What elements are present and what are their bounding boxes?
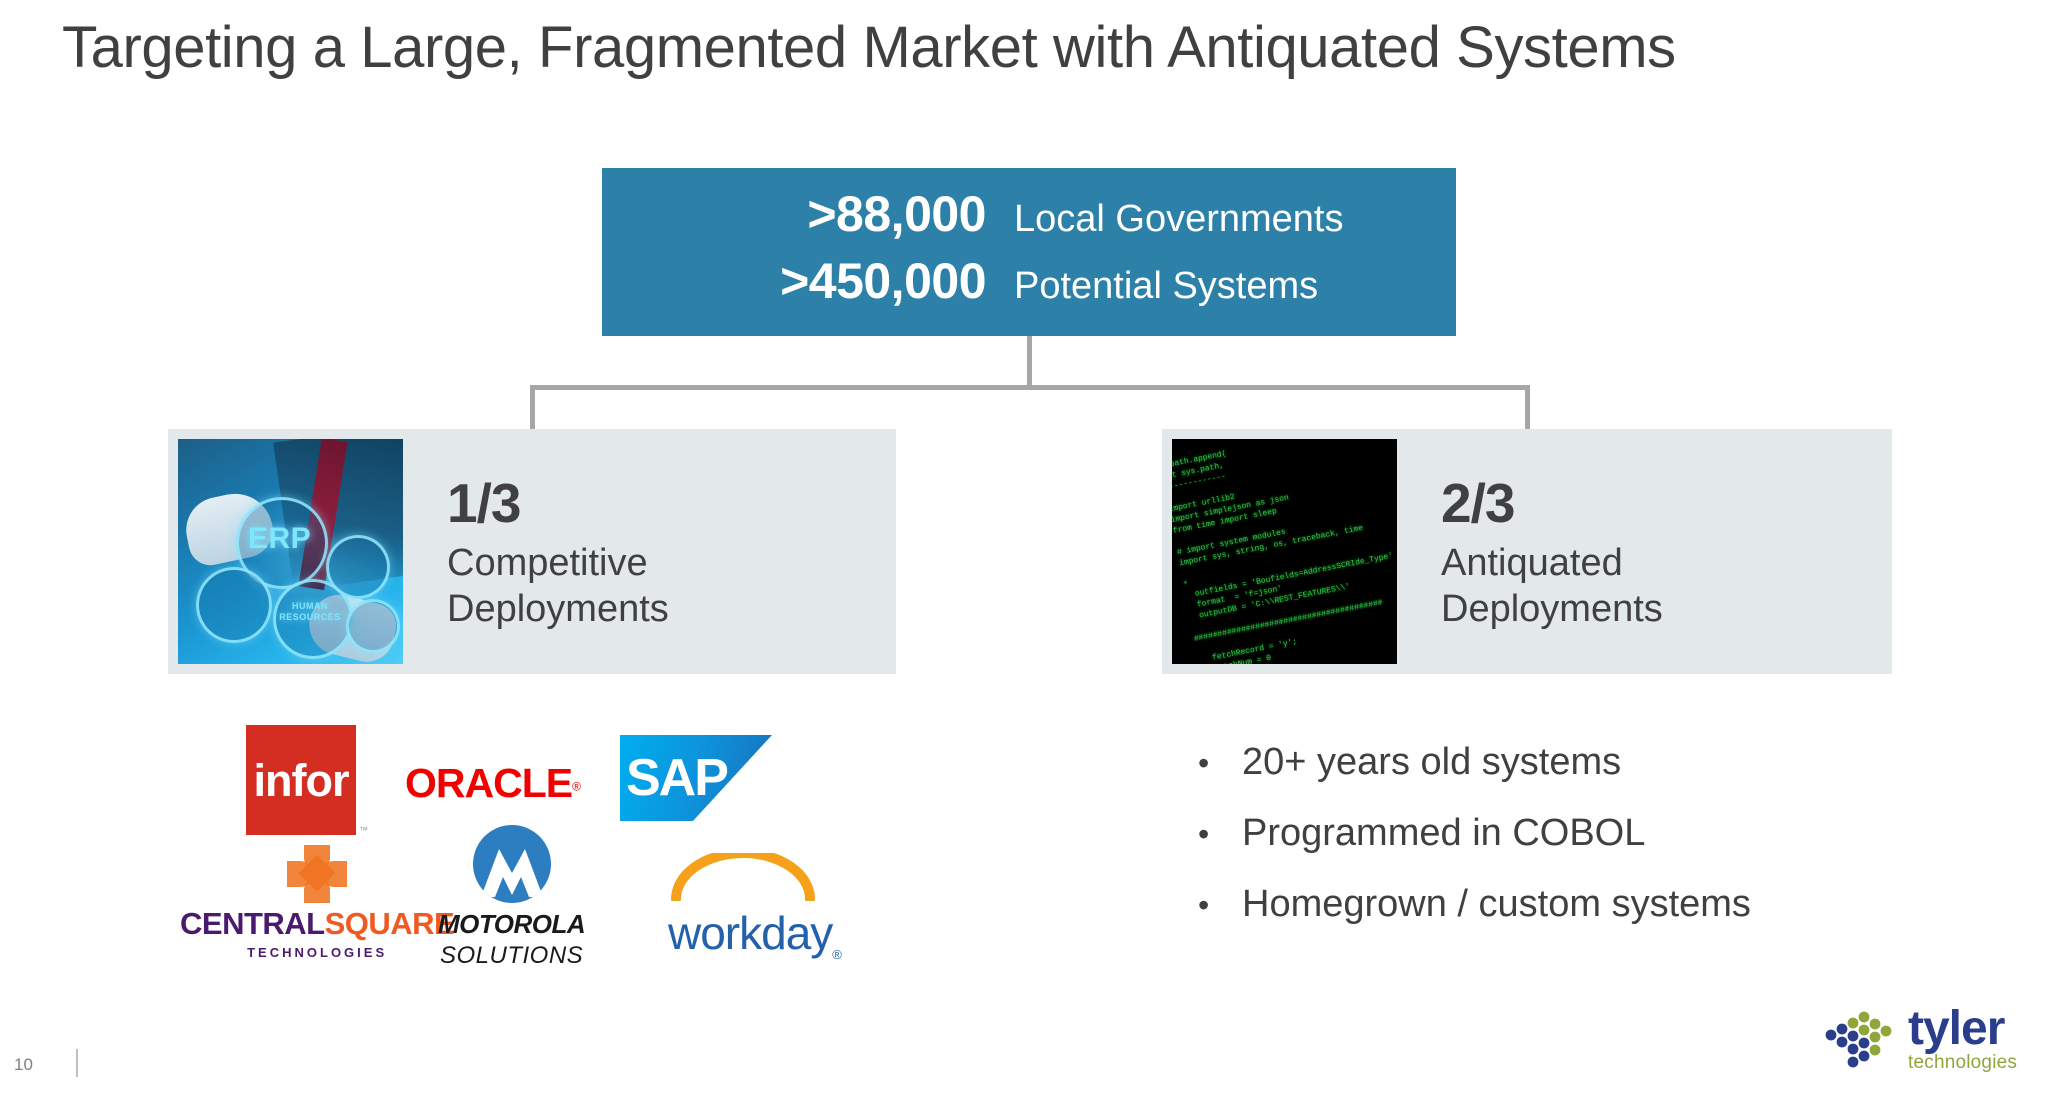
- infor-trademark-symbol: ™: [359, 825, 368, 835]
- stat-row-local-governments: >88,000 Local Governments: [698, 185, 1456, 252]
- card-caption-line2: Deployments: [447, 586, 669, 632]
- connector-line-vertical-main: [1027, 336, 1032, 388]
- motorola-m-icon: [473, 825, 551, 903]
- oracle-logo-text: ORACLE: [405, 760, 572, 806]
- oracle-registered-symbol: ®: [572, 780, 581, 794]
- antiquated-systems-bullet-list: • 20+ years old systems • Programmed in …: [1198, 738, 1898, 951]
- workday-logo-text: workday: [668, 907, 832, 959]
- gear-icon: [196, 567, 272, 643]
- sap-logo-text: SAP: [626, 752, 727, 804]
- workday-registered-symbol: ®: [832, 947, 841, 962]
- gear-icon: [326, 535, 390, 599]
- card-caption-line1: Antiquated: [1441, 540, 1663, 586]
- tyler-technologies-logo: tyler technologies: [1824, 1001, 2034, 1079]
- bullet-text: 20+ years old systems: [1242, 738, 1621, 786]
- stat-number-local-governments: >88,000: [698, 185, 986, 243]
- gear-icon: [346, 599, 400, 653]
- list-item: • Homegrown / custom systems: [1198, 880, 1898, 929]
- stat-row-potential-systems: >450,000 Potential Systems: [698, 252, 1456, 319]
- bullet-text: Programmed in COBOL: [1242, 809, 1645, 857]
- page-number: 10: [14, 1055, 33, 1075]
- stat-label-potential-systems: Potential Systems: [1014, 265, 1318, 308]
- list-item: • Programmed in COBOL: [1198, 809, 1898, 858]
- card-caption-line2: Deployments: [1441, 586, 1663, 632]
- card-fraction-two-thirds: 2/3: [1441, 472, 1663, 534]
- motorola-logo-subtitle: SOLUTIONS: [438, 942, 585, 970]
- connector-line-vertical-left: [530, 385, 535, 431]
- logo-oracle: ORACLE®: [405, 760, 581, 807]
- centralsquare-logo-text-part1: CENTRAL: [180, 906, 325, 941]
- connector-line-vertical-right: [1525, 385, 1530, 431]
- erp-image-label-main: ERP: [248, 522, 311, 556]
- legacy-code-terminal-image: s.path.append( int sys.path, -----------…: [1172, 439, 1397, 664]
- centralsquare-logo-text-part2: SQUARE: [325, 906, 455, 941]
- terminal-code-text: s.path.append( int sys.path, -----------…: [1172, 439, 1397, 664]
- tyler-dot-arrow-icon: [1824, 1005, 1900, 1075]
- erp-image-label-secondary: HUMAN RESOURCES: [278, 601, 342, 623]
- footer-divider: [76, 1049, 78, 1077]
- card-text-block: 2/3 Antiquated Deployments: [1441, 472, 1663, 632]
- competitor-logo-grid: infor ™ ORACLE® SAP ® CENTRALSQUARE TECH…: [180, 705, 900, 975]
- page-title: Targeting a Large, Fragmented Market wit…: [62, 14, 1676, 81]
- sap-registered-symbol: ®: [730, 806, 737, 817]
- erp-gears-image: ERP HUMAN RESOURCES: [178, 439, 403, 664]
- centralsquare-logo-subtitle: TECHNOLOGIES: [180, 945, 454, 960]
- logo-centralsquare: CENTRALSQUARE TECHNOLOGIES: [180, 845, 454, 960]
- logo-motorola-solutions: MOTOROLA SOLUTIONS: [438, 825, 585, 970]
- infor-logo-box: infor ™: [246, 725, 356, 835]
- bullet-marker-icon: •: [1198, 739, 1242, 787]
- bullet-text: Homegrown / custom systems: [1242, 880, 1751, 928]
- card-caption-line1: Competitive: [447, 540, 669, 586]
- list-item: • 20+ years old systems: [1198, 738, 1898, 787]
- logo-infor: infor ™: [246, 725, 356, 835]
- card-antiquated-deployments: s.path.append( int sys.path, -----------…: [1162, 429, 1892, 674]
- infor-logo-text: infor: [254, 758, 349, 803]
- connector-line-horizontal: [530, 385, 1530, 390]
- logo-sap: SAP ®: [620, 735, 772, 821]
- tyler-tagline: technologies: [1908, 1052, 2017, 1074]
- card-competitive-deployments: ERP HUMAN RESOURCES 1/3 Competitive Depl…: [168, 429, 896, 674]
- sap-logo-shape: SAP ®: [620, 735, 772, 821]
- tyler-company-name: tyler: [1908, 1006, 2017, 1052]
- centralsquare-diamond-icon: [287, 845, 347, 903]
- card-text-block: 1/3 Competitive Deployments: [447, 472, 669, 632]
- card-fraction-one-third: 1/3: [447, 472, 669, 534]
- motorola-m-glyph: [473, 835, 551, 903]
- motorola-logo-text: MOTOROLA: [438, 909, 585, 940]
- tyler-wordmark: tyler technologies: [1908, 1006, 2017, 1074]
- logo-workday: workday®: [668, 853, 841, 980]
- stat-number-potential-systems: >450,000: [698, 252, 986, 310]
- market-stat-box: >88,000 Local Governments >450,000 Poten…: [602, 168, 1456, 336]
- bullet-marker-icon: •: [1198, 881, 1242, 929]
- workday-arc-icon: [668, 853, 818, 901]
- bullet-marker-icon: •: [1198, 810, 1242, 858]
- stat-label-local-governments: Local Governments: [1014, 198, 1344, 241]
